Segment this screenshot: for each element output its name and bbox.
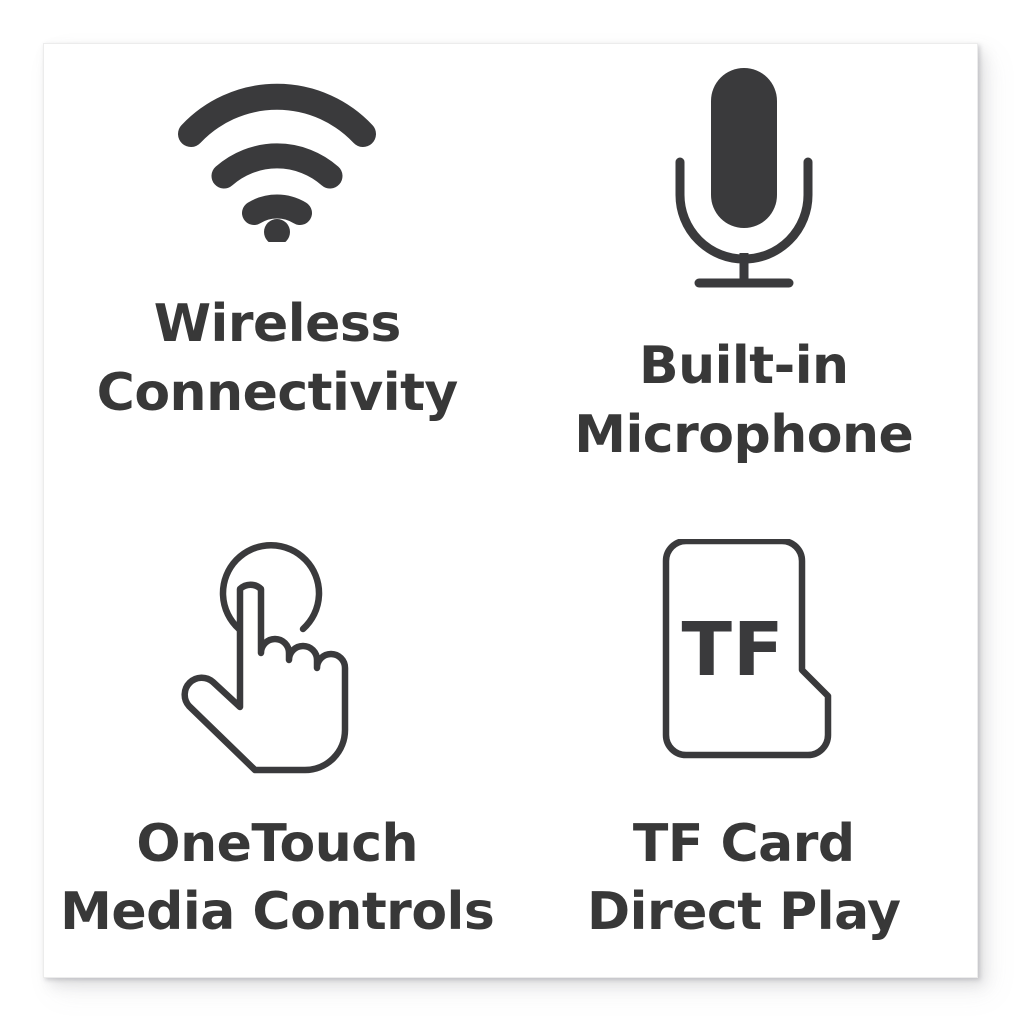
feature-card: Wireless Connectivity Buil bbox=[43, 43, 978, 978]
tf-card-label: TF bbox=[682, 607, 785, 693]
feature-label-tf-card-direct-play: TF Card Direct Play bbox=[587, 810, 901, 947]
feature-label-built-in-microphone: Built-in Microphone bbox=[574, 332, 913, 469]
feature-item-built-in-microphone: Built-in Microphone bbox=[511, 44, 978, 511]
tf-card-icon: TF bbox=[636, 539, 851, 774]
touch-hand-icon bbox=[177, 539, 377, 774]
feature-label-onetouch-media-controls: OneTouch Media Controls bbox=[60, 810, 494, 947]
feature-grid: Wireless Connectivity Buil bbox=[44, 44, 977, 977]
feature-item-tf-card-direct-play: TF TF Card Direct Play bbox=[511, 511, 978, 978]
feature-item-onetouch-media-controls: OneTouch Media Controls bbox=[44, 511, 511, 978]
feature-item-wireless-connectivity: Wireless Connectivity bbox=[44, 44, 511, 511]
feature-graphic-stage: Wireless Connectivity Buil bbox=[0, 0, 1024, 1024]
wifi-icon bbox=[177, 72, 377, 242]
feature-label-wireless-connectivity: Wireless Connectivity bbox=[97, 290, 458, 427]
microphone-icon bbox=[649, 62, 839, 292]
